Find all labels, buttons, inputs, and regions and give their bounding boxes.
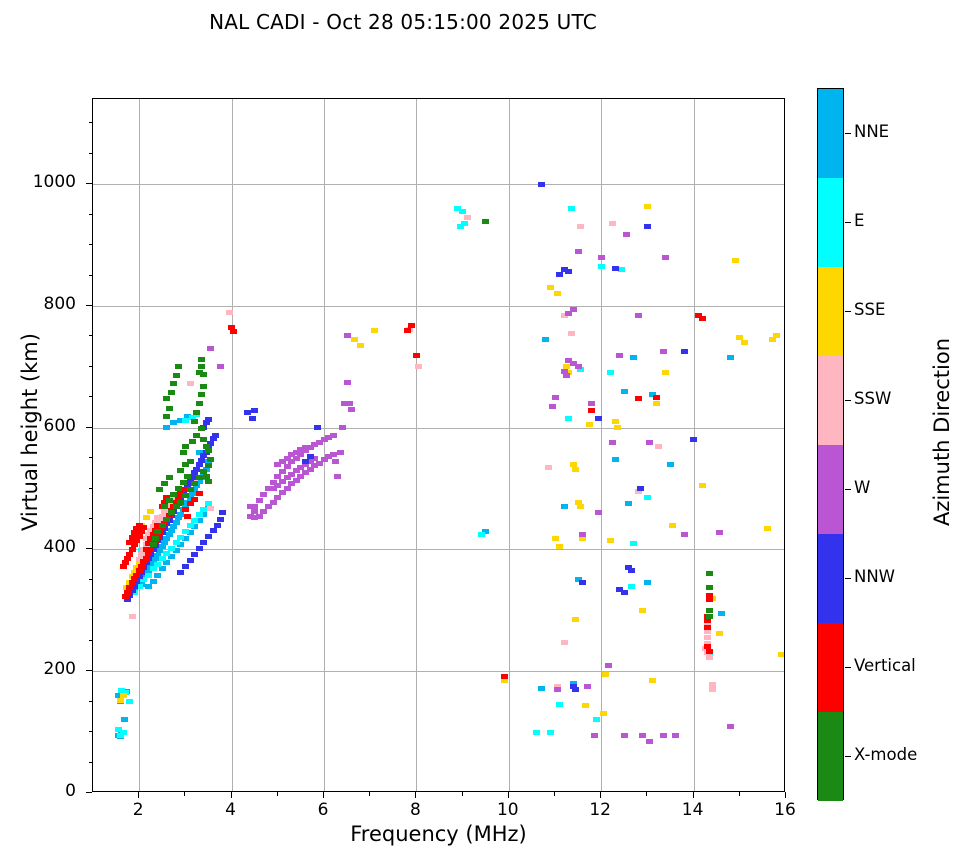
data-point-e [177, 535, 184, 540]
data-point-nnw [314, 425, 321, 430]
data-point-e [173, 540, 180, 545]
colorbar-label-x-mode: X-mode [854, 745, 917, 764]
data-point-nnw [177, 570, 184, 575]
y-tick [86, 548, 92, 549]
data-point-nnw [191, 552, 198, 557]
data-point-w [609, 440, 616, 445]
data-point-x-mode [198, 426, 205, 431]
data-point-w [284, 464, 291, 469]
data-point-x-mode [175, 486, 182, 491]
x-tick-label: 4 [201, 800, 261, 820]
data-point-nnw [205, 417, 212, 422]
y-tick-minor [89, 609, 93, 610]
x-tick-label: 2 [108, 800, 168, 820]
data-point-x-mode [198, 364, 205, 369]
data-point-sse [653, 401, 660, 406]
data-point-e [191, 518, 198, 523]
data-point-nnw [212, 433, 219, 438]
data-point-e [182, 418, 189, 423]
data-point-x-mode [191, 481, 198, 486]
data-point-nnw [681, 349, 688, 354]
data-point-sse [552, 536, 559, 541]
x-tick-minor [369, 792, 370, 796]
data-point-sse [662, 370, 669, 375]
x-tick-minor [184, 792, 185, 796]
data-point-nnw [637, 486, 644, 491]
data-point-w [554, 687, 561, 692]
data-point-e [187, 523, 194, 528]
data-point-w [639, 733, 646, 738]
data-point-e [644, 495, 651, 500]
y-tick-minor [89, 731, 93, 732]
data-point-x-mode [182, 493, 189, 498]
colorbar-label-nne: NNE [854, 122, 889, 141]
data-point-sse [351, 337, 358, 342]
data-point-e [593, 717, 600, 722]
data-point-sse [600, 711, 607, 716]
data-point-sse [357, 343, 364, 348]
data-point-e [630, 541, 637, 546]
data-point-x-mode [205, 448, 212, 453]
data-point-x-mode [170, 381, 177, 386]
data-point-w [274, 483, 281, 488]
colorbar-segment-vertical [818, 623, 843, 712]
data-point-x-mode [193, 433, 200, 438]
data-point-nnw [251, 408, 258, 413]
colorbar-label-ssw: SSW [854, 389, 891, 408]
gridline-vertical [232, 99, 233, 791]
x-tick-minor [739, 792, 740, 796]
data-point-x-mode [180, 450, 187, 455]
data-point-sse [644, 204, 651, 209]
data-point-sse [716, 631, 723, 636]
y-tick-minor [89, 396, 93, 397]
data-point-w [598, 255, 605, 260]
x-tick-label: 12 [570, 800, 630, 820]
data-point-x-mode [200, 437, 207, 442]
data-point-x-mode [156, 487, 163, 492]
colorbar [817, 88, 844, 800]
data-point-nnw [595, 416, 602, 421]
data-point-ssw [464, 215, 471, 220]
colorbar-segment-x-mode [818, 712, 843, 801]
x-tick-label: 16 [755, 800, 815, 820]
data-point-w [344, 380, 351, 385]
data-point-w [646, 440, 653, 445]
data-point-w [332, 459, 339, 464]
data-point-e [150, 566, 157, 571]
data-point-x-mode [161, 481, 168, 486]
data-point-w [334, 474, 341, 479]
data-point-x-mode [180, 480, 187, 485]
data-point-ssw [609, 221, 616, 226]
data-point-w [217, 364, 224, 369]
data-point-sse [764, 526, 771, 531]
y-tick [86, 792, 92, 793]
data-point-ssw [655, 444, 662, 449]
data-point-ssw [709, 687, 716, 692]
data-point-x-mode [163, 414, 170, 419]
y-tick-minor [89, 701, 93, 702]
data-point-nnw [219, 510, 226, 515]
y-tick-minor [89, 335, 93, 336]
data-point-e [568, 206, 575, 211]
gridline-horizontal [93, 184, 784, 185]
data-point-w [621, 733, 628, 738]
x-tick-label: 6 [293, 800, 353, 820]
data-point-e [565, 416, 572, 421]
y-tick [86, 183, 92, 184]
data-point-x-mode [706, 614, 713, 619]
data-point-e [607, 370, 614, 375]
y-tick [86, 670, 92, 671]
gridline-horizontal [93, 671, 784, 672]
data-point-nnw [556, 272, 563, 277]
y-tick-minor [89, 640, 93, 641]
data-point-nnw [302, 459, 309, 464]
data-point-vertical [704, 625, 711, 630]
data-point-x-mode [166, 475, 173, 480]
data-point-w [274, 495, 281, 500]
data-point-sse [579, 536, 586, 541]
data-point-ssw [561, 640, 568, 645]
data-point-nne [145, 584, 152, 589]
scatter-canvas [93, 99, 784, 791]
colorbar-segment-ssw [818, 356, 843, 445]
data-point-nne [159, 566, 166, 571]
gridline-vertical [324, 99, 325, 791]
data-point-x-mode [154, 529, 161, 534]
gridline-vertical [416, 99, 417, 791]
gridline-vertical [601, 99, 602, 791]
data-point-w [270, 500, 277, 505]
colorbar-tick [845, 311, 851, 312]
data-point-e [182, 529, 189, 534]
data-point-w [260, 509, 267, 514]
x-tick-label: 14 [663, 800, 723, 820]
data-point-x-mode [198, 357, 205, 362]
y-tick-minor [89, 244, 93, 245]
data-point-vertical [126, 585, 133, 590]
data-point-x-mode [159, 523, 166, 528]
data-point-ssw [568, 331, 575, 336]
data-point-w [565, 311, 572, 316]
data-point-sse [669, 523, 676, 528]
x-tick-minor [554, 792, 555, 796]
data-point-e [168, 546, 175, 551]
data-point-sse [699, 483, 706, 488]
gridline-horizontal [93, 306, 784, 307]
plot-area [92, 98, 785, 792]
data-point-x-mode [168, 390, 175, 395]
data-point-vertical [706, 593, 713, 598]
data-point-w [623, 232, 630, 237]
data-point-w [591, 733, 598, 738]
data-point-w [265, 504, 272, 509]
data-point-nne [542, 337, 549, 342]
data-point-x-mode [161, 504, 168, 509]
data-point-w [260, 492, 267, 497]
data-point-vertical [182, 507, 189, 512]
data-point-x-mode [170, 492, 177, 497]
data-point-sse [143, 515, 150, 520]
data-point-ssw [545, 465, 552, 470]
data-point-x-mode [205, 463, 212, 468]
data-point-x-mode [196, 401, 203, 406]
data-point-nnw [214, 523, 221, 528]
data-point-vertical [699, 316, 706, 321]
y-tick [86, 305, 92, 306]
y-tick-minor [89, 275, 93, 276]
x-tick [785, 792, 786, 798]
data-point-nne [121, 717, 128, 722]
colorbar-segment-sse [818, 267, 843, 356]
data-point-nnw [644, 224, 651, 229]
colorbar-tick [845, 756, 851, 757]
y-tick-label: 0 [0, 781, 76, 801]
data-point-nne [625, 501, 632, 506]
data-point-nnw [198, 458, 205, 463]
x-tick [508, 792, 509, 798]
colorbar-tick [845, 578, 851, 579]
colorbar-segment-nnw [818, 534, 843, 623]
x-tick [693, 792, 694, 798]
data-point-w [716, 530, 723, 535]
data-point-vertical [143, 547, 150, 552]
data-point-w [346, 401, 353, 406]
data-point-sse [639, 608, 646, 613]
data-point-e [598, 264, 605, 269]
data-point-vertical [124, 590, 131, 595]
x-tick-minor [462, 792, 463, 796]
data-point-w [552, 395, 559, 400]
data-point-nnw [612, 266, 619, 271]
x-tick [323, 792, 324, 798]
data-point-nnw [187, 558, 194, 563]
data-point-sse [117, 698, 124, 703]
y-tick-minor [89, 518, 93, 519]
data-point-nnw [538, 182, 545, 187]
data-point-nne [159, 544, 166, 549]
data-point-e [628, 584, 635, 589]
data-point-vertical [501, 674, 508, 679]
data-point-w [672, 733, 679, 738]
data-point-ssw [577, 224, 584, 229]
data-point-w [662, 255, 669, 260]
data-point-w [251, 509, 258, 514]
y-tick-minor [89, 579, 93, 580]
data-point-nnw [196, 546, 203, 551]
data-point-e [154, 562, 161, 567]
data-point-x-mode [152, 536, 159, 541]
data-point-sse [572, 617, 579, 622]
data-point-sse [501, 678, 508, 683]
colorbar-tick [845, 222, 851, 223]
data-point-w [575, 364, 582, 369]
data-point-e [196, 512, 203, 517]
data-point-nne [166, 532, 173, 537]
gridline-vertical [509, 99, 510, 791]
data-point-x-mode [177, 500, 184, 505]
data-point-nne [177, 512, 184, 517]
data-point-x-mode [193, 410, 200, 415]
data-point-vertical [120, 564, 127, 569]
data-point-sse [612, 419, 619, 424]
data-point-w [646, 739, 653, 744]
data-point-w [284, 486, 291, 491]
data-point-w [251, 515, 258, 520]
data-point-x-mode [187, 459, 194, 464]
data-point-nne [561, 504, 568, 509]
y-tick-minor [89, 153, 93, 154]
data-point-w [681, 532, 688, 537]
data-point-nne [718, 611, 725, 616]
data-point-sse [769, 337, 776, 342]
data-point-x-mode [200, 372, 207, 377]
data-point-vertical [191, 497, 198, 502]
data-point-x-mode [163, 396, 170, 401]
data-point-w [565, 358, 572, 363]
data-point-vertical [653, 395, 660, 400]
data-point-vertical [704, 618, 711, 623]
data-point-x-mode [200, 384, 207, 389]
data-point-e [159, 556, 166, 561]
x-tick-label: 10 [478, 800, 538, 820]
data-point-nnw [182, 564, 189, 569]
data-point-w [584, 684, 591, 689]
gridline-vertical [139, 99, 140, 791]
data-point-w [563, 373, 570, 378]
data-point-x-mode [168, 510, 175, 515]
colorbar-label-w: W [854, 478, 870, 497]
colorbar-label-vertical: Vertical [854, 656, 916, 675]
y-tick-minor [89, 214, 93, 215]
data-point-x-mode [163, 517, 170, 522]
data-point-w [348, 407, 355, 412]
colorbar-tick [845, 400, 851, 401]
data-point-e [547, 730, 554, 735]
data-point-ssw [704, 635, 711, 640]
x-tick [231, 792, 232, 798]
data-point-w [330, 433, 337, 438]
data-point-x-mode [173, 504, 180, 509]
data-point-x-mode [205, 479, 212, 484]
data-point-e [618, 267, 625, 272]
data-point-vertical [122, 594, 129, 599]
data-point-sse [607, 538, 614, 543]
data-point-x-mode [187, 487, 194, 492]
data-point-w [605, 663, 612, 668]
data-point-x-mode [207, 457, 214, 462]
data-point-x-mode [706, 608, 713, 613]
data-point-w [247, 504, 254, 509]
colorbar-tick [845, 489, 851, 490]
data-point-nne [150, 579, 157, 584]
y-axis-title: Virtual height (km) [18, 82, 42, 782]
x-tick [600, 792, 601, 798]
x-axis-title: Frequency (MHz) [92, 822, 785, 846]
data-point-w [579, 532, 586, 537]
y-tick-minor [89, 762, 93, 763]
data-point-vertical [138, 564, 145, 569]
x-tick-label: 8 [385, 800, 445, 820]
data-point-e [459, 209, 466, 214]
data-point-vertical [413, 353, 420, 358]
y-tick-minor [89, 366, 93, 367]
data-point-vertical [706, 597, 713, 602]
data-point-vertical [706, 649, 713, 654]
data-point-nne [173, 520, 180, 525]
x-tick [415, 792, 416, 798]
data-point-nnw [628, 568, 635, 573]
data-point-ssw [226, 310, 233, 315]
data-point-e [145, 573, 152, 578]
data-point-e [126, 699, 133, 704]
data-point-ssw [415, 364, 422, 369]
data-point-x-mode [189, 439, 196, 444]
data-point-nne [163, 536, 170, 541]
data-point-nne [630, 355, 637, 360]
data-point-nne [644, 580, 651, 585]
data-point-nne [612, 457, 619, 462]
data-point-w [207, 346, 214, 351]
x-tick [138, 792, 139, 798]
data-point-nnw [217, 517, 224, 522]
data-point-sse [586, 422, 593, 427]
colorbar-tick [845, 133, 851, 134]
data-point-e [533, 730, 540, 735]
data-point-vertical [126, 540, 133, 545]
data-point-w [256, 498, 263, 503]
data-point-sse [371, 328, 378, 333]
y-tick-minor [89, 457, 93, 458]
data-point-ssw [706, 655, 713, 660]
data-point-w [302, 445, 309, 450]
data-point-sse [741, 340, 748, 345]
data-point-vertical [136, 523, 143, 528]
data-point-sse [614, 425, 621, 430]
data-point-sse [778, 652, 784, 657]
y-tick-minor [89, 488, 93, 489]
data-point-ssw [129, 614, 136, 619]
data-point-e [115, 727, 122, 732]
data-point-nne [163, 425, 170, 430]
data-point-nnw [572, 687, 579, 692]
data-point-w [575, 249, 582, 254]
data-point-x-mode [198, 392, 205, 397]
data-point-sse [577, 504, 584, 509]
data-point-nnw [249, 416, 256, 421]
data-point-sse [572, 467, 579, 472]
data-point-nnw [690, 437, 697, 442]
colorbar-segment-w [818, 445, 843, 534]
data-point-w [279, 469, 286, 474]
data-point-w [339, 425, 346, 430]
data-point-nnw [307, 454, 314, 459]
data-point-x-mode [175, 364, 182, 369]
data-point-x-mode [150, 542, 157, 547]
data-point-sse [556, 544, 563, 549]
y-tick [86, 427, 92, 428]
data-point-nnw [193, 467, 200, 472]
data-point-e [478, 532, 485, 537]
data-point-nnw [565, 269, 572, 274]
data-point-sse [554, 291, 561, 296]
data-point-x-mode [482, 219, 489, 224]
data-point-sse [602, 672, 609, 677]
data-point-nne [163, 560, 170, 565]
data-point-e [461, 221, 468, 226]
